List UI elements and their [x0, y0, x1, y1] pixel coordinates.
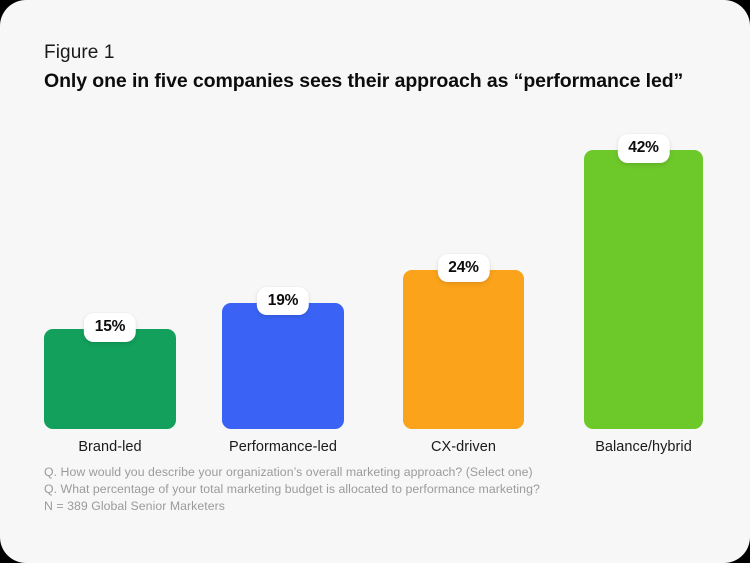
footnotes: Q. How would you describe your organizat…: [44, 464, 540, 516]
bar-value-label-cx-driven: 24%: [437, 254, 489, 283]
bar-balance-hybrid[interactable]: [584, 150, 703, 429]
footnote-sample-size: N = 389 Global Senior Marketers: [44, 498, 540, 515]
category-label-cx-driven: CX-driven: [431, 439, 496, 455]
bar-brand-led[interactable]: [44, 329, 176, 429]
footnote-question-1: Q. How would you describe your organizat…: [44, 464, 540, 481]
category-label-performance-led: Performance-led: [229, 439, 337, 455]
bar-cx-driven[interactable]: [403, 270, 524, 429]
bar-value-label-brand-led: 15%: [84, 313, 136, 342]
chart-card: Figure 1 Only one in five companies sees…: [0, 0, 750, 563]
bar-performance-led[interactable]: [222, 303, 344, 429]
bar-value-label-performance-led: 19%: [257, 287, 309, 316]
category-label-balance-hybrid: Balance/hybrid: [595, 439, 692, 455]
category-label-brand-led: Brand-led: [78, 439, 141, 455]
footnote-question-2: Q. What percentage of your total marketi…: [44, 481, 540, 498]
bar-value-label-balance-hybrid: 42%: [617, 134, 669, 163]
